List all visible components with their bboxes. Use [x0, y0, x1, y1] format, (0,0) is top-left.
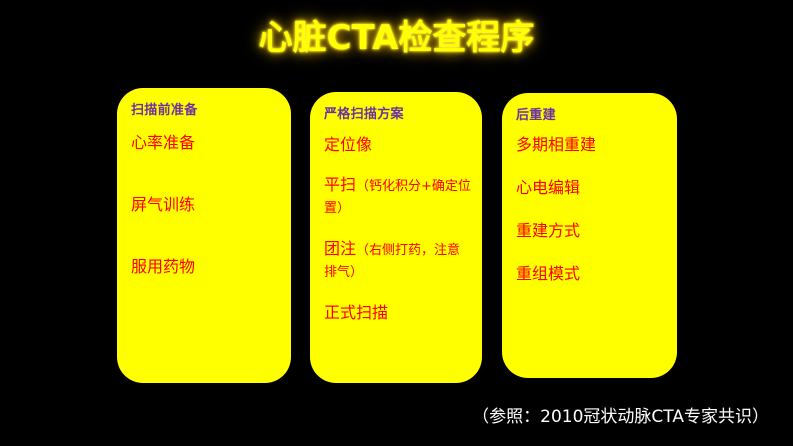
- process-item-main: 正式扫描: [324, 303, 388, 322]
- process-item-main: 心率准备: [131, 133, 195, 152]
- process-item: 定位像: [324, 135, 472, 155]
- source-footnote: （参照：2010冠状动脉CTA专家共识）: [0, 405, 769, 429]
- process-item: 重组模式: [516, 264, 667, 284]
- slide-canvas: 心脏CTA检查程序 扫描前准备 心率准备 屏气训练 服用药物 严格扫描方案 定位…: [0, 0, 793, 446]
- process-box-post-reconstruction[interactable]: 后重建 多期相重建 心电编辑 重建方式 重组模式: [502, 93, 677, 378]
- process-item: 服用药物: [131, 257, 281, 277]
- process-item-main: 屏气训练: [131, 195, 195, 214]
- process-box-header: 扫描前准备: [131, 102, 281, 119]
- process-item: 心率准备: [131, 133, 281, 153]
- process-item-main: 团注: [324, 239, 356, 258]
- process-item: 屏气训练: [131, 195, 281, 215]
- process-item: 团注（右侧打药，注意排气）: [324, 239, 472, 283]
- process-item-main: 重组模式: [516, 264, 580, 283]
- process-item: 多期相重建: [516, 135, 667, 155]
- process-item-main: 多期相重建: [516, 135, 596, 154]
- process-item-main: 心电编辑: [516, 178, 580, 197]
- process-item-main: 定位像: [324, 135, 372, 154]
- process-box-scan-protocol[interactable]: 严格扫描方案 定位像 平扫（钙化积分+确定位置） 团注（右侧打药，注意排气） 正…: [310, 92, 482, 383]
- page-title: 心脏CTA检查程序: [0, 16, 793, 60]
- process-item: 重建方式: [516, 221, 667, 241]
- process-item-main: 重建方式: [516, 221, 580, 240]
- process-box-pre-scan[interactable]: 扫描前准备 心率准备 屏气训练 服用药物: [117, 88, 291, 383]
- process-item: 心电编辑: [516, 178, 667, 198]
- process-box-content: 扫描前准备 心率准备 屏气训练 服用药物: [131, 102, 281, 277]
- process-box-content: 严格扫描方案 定位像 平扫（钙化积分+确定位置） 团注（右侧打药，注意排气） 正…: [324, 106, 472, 323]
- process-item: 正式扫描: [324, 303, 472, 323]
- process-item-main: 服用药物: [131, 257, 195, 276]
- process-item: 平扫（钙化积分+确定位置）: [324, 175, 472, 219]
- process-box-header: 后重建: [516, 107, 667, 124]
- process-box-header: 严格扫描方案: [324, 106, 472, 123]
- process-item-main: 平扫: [324, 175, 356, 194]
- process-box-content: 后重建 多期相重建 心电编辑 重建方式 重组模式: [516, 107, 667, 284]
